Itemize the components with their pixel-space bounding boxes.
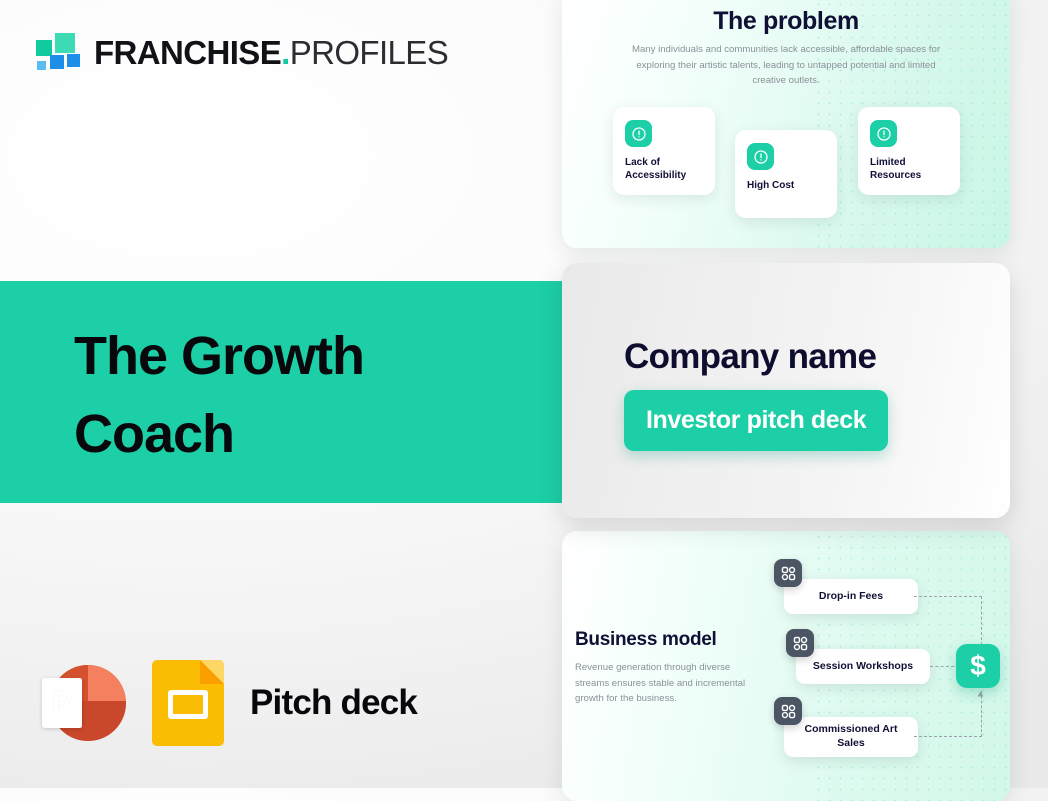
problem-item-label: High Cost: [747, 179, 825, 192]
brand-name-dot: .: [281, 34, 290, 71]
alert-circle-icon: [747, 143, 774, 170]
grid-squares-icon: [774, 559, 802, 587]
brand-logo: FRANCHISE.PROFILES: [36, 32, 448, 72]
pitch-deck-label: Pitch deck: [250, 683, 417, 723]
brand-name-bold: FRANCHISE: [94, 34, 281, 71]
company-slide-title: Company name: [624, 337, 876, 377]
problem-slide-subtitle: Many individuals and communities lack ac…: [620, 42, 952, 89]
problem-item-card[interactable]: Limited Resources: [858, 107, 960, 195]
problem-item-label: Lack of Accessibility: [625, 156, 703, 182]
powerpoint-letter: P: [42, 678, 82, 728]
dollar-symbol: $: [970, 652, 986, 680]
dollar-sign-icon: $: [956, 644, 1000, 688]
squares-logo-icon: [36, 32, 80, 72]
business-slide-subtitle: Revenue generation through diverse strea…: [575, 660, 755, 707]
connector-line: [914, 596, 982, 597]
revenue-stream-chip[interactable]: Session Workshops: [796, 649, 930, 684]
connector-arrow: [978, 692, 984, 697]
hero-banner: The Growth Coach: [0, 281, 568, 503]
brand-wordmark: FRANCHISE.PROFILES: [94, 36, 448, 69]
problem-item-card[interactable]: High Cost: [735, 130, 837, 218]
connector-line: [981, 691, 982, 737]
alert-circle-icon: [870, 120, 897, 147]
pitch-deck-formats: P Pitch deck: [38, 660, 417, 746]
google-slides-icon[interactable]: [152, 660, 224, 746]
revenue-stream-chip[interactable]: Drop-in Fees: [784, 579, 918, 614]
powerpoint-icon[interactable]: P: [38, 661, 126, 745]
slide-card-company[interactable]: Company name Investor pitch deck: [562, 263, 1010, 518]
grid-squares-icon: [774, 697, 802, 725]
problem-item-card[interactable]: Lack of Accessibility: [613, 107, 715, 195]
connector-line: [914, 736, 982, 737]
problem-slide-title: The problem: [562, 7, 1010, 36]
brand-name-light: PROFILES: [290, 34, 448, 71]
investor-pitch-deck-button[interactable]: Investor pitch deck: [624, 390, 888, 451]
hero-title: The Growth Coach: [74, 317, 504, 474]
grid-squares-icon: [786, 629, 814, 657]
alert-circle-icon: [625, 120, 652, 147]
revenue-stream-chip[interactable]: Commissioned Art Sales: [784, 717, 918, 757]
slide-card-business[interactable]: Business model Revenue generation throug…: [562, 531, 1010, 801]
business-slide-title: Business model: [575, 629, 717, 651]
problem-item-label: Limited Resources: [870, 156, 948, 182]
